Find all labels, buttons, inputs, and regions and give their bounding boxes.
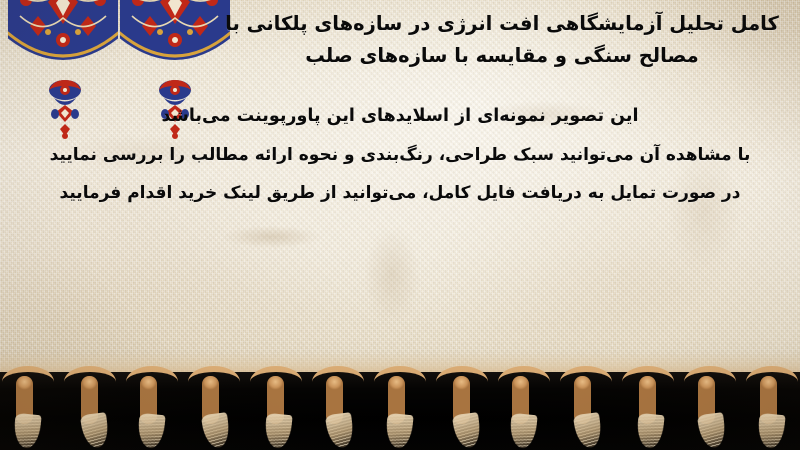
fringe-tassel — [436, 366, 488, 450]
slide-title: کامل تحلیل آزمایشگاهی افت انرژی در سازه‌… — [222, 8, 782, 71]
slide-body-line: این تصویر نمونه‌ای از اسلایدهای این پاور… — [40, 108, 760, 126]
corner-ornament-group — [0, 0, 230, 116]
fringe-tassel — [560, 366, 612, 450]
carpet-fringe — [0, 366, 800, 450]
slide-body-line: با مشاهده آن می‌توانید سبک طراحی، رنگ‌بن… — [40, 147, 760, 164]
fringe-tassel — [250, 366, 302, 450]
persian-medallion-icon — [8, 0, 118, 86]
slide-title-line: کامل تحلیل آزمایشگاهی افت انرژی در سازه‌… — [222, 8, 782, 40]
persian-medallion-icon — [120, 0, 230, 86]
fringe-tassel — [188, 366, 240, 450]
slide-body-line: در صورت تمایل به دریافت فایل کامل، می‌تو… — [40, 185, 760, 202]
fringe-tassel — [374, 366, 426, 450]
fringe-tassel — [64, 366, 116, 450]
fringe-tassel — [312, 366, 364, 450]
fringe-tassel — [2, 366, 54, 450]
fringe-tassel — [498, 366, 550, 450]
fringe-tassel — [684, 366, 736, 450]
fringe-tassel — [622, 366, 674, 450]
fringe-tassel — [126, 366, 178, 450]
presentation-slide: کامل تحلیل آزمایشگاهی افت انرژی در سازه‌… — [0, 0, 800, 450]
slide-body: این تصویر نمونه‌ای از اسلایدهای این پاور… — [40, 108, 760, 223]
fringe-tassel — [746, 366, 798, 450]
slide-title-line: مصالح سنگی و مقایسه با سازه‌های صلب — [222, 40, 782, 72]
